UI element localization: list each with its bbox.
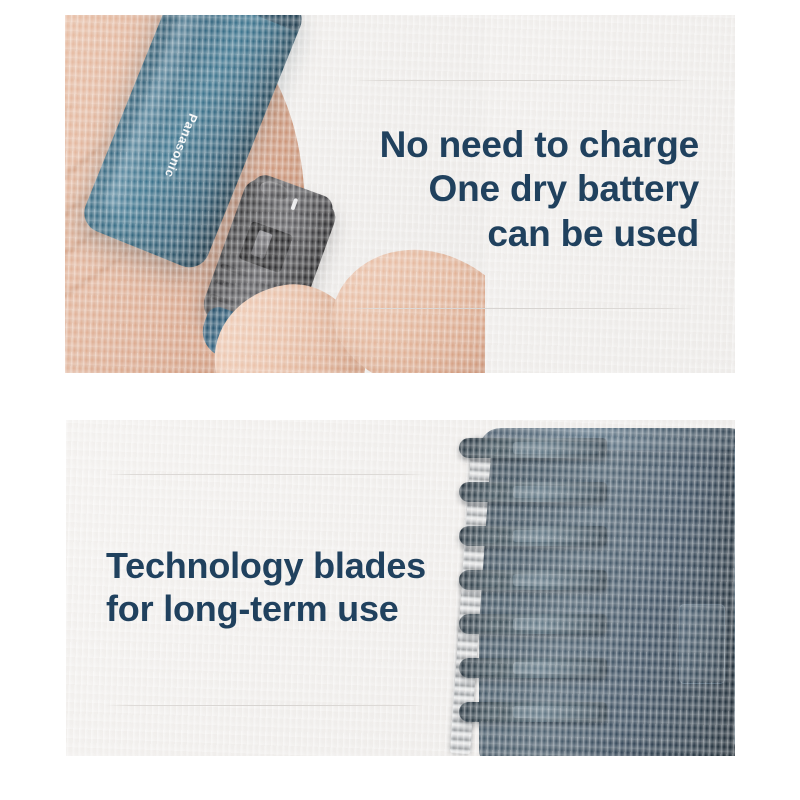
divider-rule-bottom [347, 308, 695, 309]
comb-tooth [459, 570, 607, 590]
panel-one-text-block: No need to charge One dry battery can be… [347, 15, 707, 373]
cartridge-battery-window [238, 221, 293, 274]
comb-tooth-gap [513, 486, 599, 498]
comb-tooth [459, 658, 607, 678]
divider-rule-bottom [106, 705, 426, 706]
comb-tooth-gap [513, 530, 599, 542]
comb-tooth-gap [513, 706, 599, 718]
comb-tooth-cap [461, 661, 499, 675]
panel-two-headline: Technology blades for long-term use [106, 544, 466, 630]
comb-seam [734, 446, 735, 746]
comb-latch [679, 604, 725, 684]
technology-blades-panel: Technology blades for long-term use [66, 420, 735, 756]
comb-tooth [459, 526, 607, 546]
comb-tooth [459, 614, 607, 634]
headline-line: No need to charge [347, 123, 699, 167]
comb-tooth-cap [461, 441, 499, 455]
comb-tooth-gap [513, 574, 599, 586]
comb-tooth-cap [461, 573, 499, 587]
comb-tooth-cap [461, 485, 499, 499]
comb-tooth-cap [461, 529, 499, 543]
comb-tooth [459, 482, 607, 502]
comb-tooth-gap [513, 662, 599, 674]
no-need-to-charge-panel: Panasonic No need to charge One dry batt… [65, 15, 735, 373]
panel-one-headline: No need to charge One dry battery can be… [347, 123, 699, 256]
comb-tooth-cap [461, 617, 499, 631]
headline-line: for long-term use [106, 587, 466, 630]
product-feature-page: Panasonic No need to charge One dry batt… [0, 0, 800, 800]
palm-crease [65, 103, 73, 210]
headline-line: can be used [347, 212, 699, 256]
comb-tooth [459, 702, 607, 722]
comb-tooth-gap [513, 618, 599, 630]
panasonic-brand-logo: Panasonic [162, 112, 200, 180]
comb-tooth [459, 438, 607, 458]
comb-tooth-cap [461, 705, 499, 719]
panel-two-text-block: Technology blades for long-term use [106, 420, 466, 756]
divider-rule-top [353, 80, 695, 81]
comb-tooth-gap [513, 442, 599, 454]
headline-line: One dry battery [347, 167, 699, 211]
trimmer-comb-blade-closeup-image [435, 420, 735, 756]
divider-rule-top [106, 474, 426, 475]
headline-line: Technology blades [106, 544, 466, 587]
palm-crease [65, 251, 130, 327]
